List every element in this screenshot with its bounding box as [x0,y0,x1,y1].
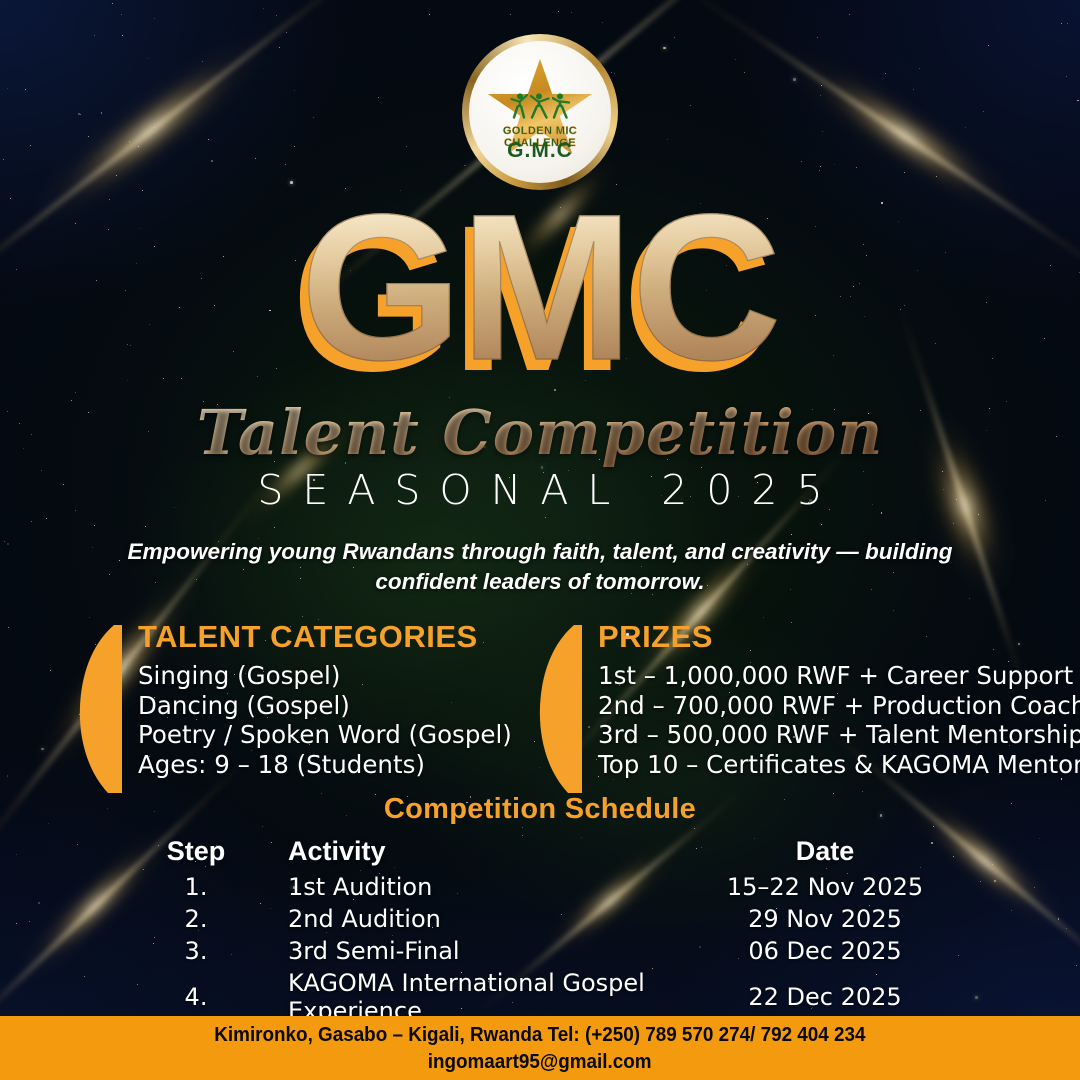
star-dot [819,170,820,171]
panel-line: 1st – 1,000,000 RWF + Career Support [598,661,1058,691]
star-dot [279,47,280,48]
star-dot [8,627,9,628]
star-dot [429,14,430,15]
star-dot [849,14,850,15]
star-dot [1039,838,1040,839]
star-dot [969,598,970,599]
star-dot [893,610,894,611]
panel-title: PRIZES [598,620,1058,654]
panel-line: Singing (Gospel) [138,661,548,691]
star-dot [793,78,796,81]
table-header-row: Step Activity Date [150,836,940,871]
cell-activity: 1st Audition [242,871,710,903]
star-dot [50,670,51,671]
star-dot [1058,918,1060,920]
gmc-wordmark-face: GMC [0,184,1080,392]
star-dot [208,139,209,140]
star-dot [46,518,47,519]
star-dot [211,160,213,162]
star-dot [262,826,263,827]
star-dot [1067,23,1068,24]
star-dot [1076,965,1077,966]
star-dot [763,617,764,618]
star-dot [988,45,989,46]
star-dot [602,22,603,23]
star-dot [41,748,44,751]
star-dot [904,172,905,173]
table-row: 1.1st Audition15–22 Nov 2025 [150,871,940,903]
star-dot [1061,23,1062,24]
star-dot [978,514,979,515]
panel-talent-categories: TALENT CATEGORIES Singing (Gospel) Danci… [78,620,548,779]
star-dot [1011,910,1012,911]
star-dot [522,827,523,828]
star-dot [137,984,138,985]
footer-address-phone: Kimironko, Gasabo – Kigali, Rwanda Tel: … [214,1022,865,1048]
star-dot [822,131,823,132]
star-dot [690,105,691,106]
star-dot [856,167,857,168]
star-dot [145,526,146,527]
star-dot [31,521,32,522]
star-dot [7,775,9,777]
star-dot [1077,100,1079,102]
bracket-icon [538,625,582,793]
star-dot [958,955,959,956]
tagline: Empowering young Rwandans through faith,… [96,537,984,597]
star-dot [101,112,103,114]
star-dot [255,158,256,159]
star-dot [7,543,9,545]
dancer-figure-icon [530,93,550,119]
star-dot [801,161,802,162]
contact-footer: Kimironko, Gasabo – Kigali, Rwanda Tel: … [0,1016,1080,1080]
star-dot [820,95,821,96]
cell-activity: 3rd Semi-Final [242,935,710,967]
star-dot [663,47,666,50]
star-dot [302,616,303,617]
header-activity: Activity [242,836,710,871]
star-dot [885,73,886,74]
star-dot [406,146,407,147]
star-dot [274,527,275,528]
schedule-title: Competition Schedule [0,793,1080,826]
star-dot [38,902,40,904]
cell-step: 3. [150,935,242,967]
star-dot [7,88,8,89]
panel-line: Dancing (Gospel) [138,691,548,721]
star-dot [821,524,822,525]
star-dot [285,164,286,165]
cell-step: 1. [150,871,242,903]
star-dot [30,145,31,146]
cell-date: 29 Nov 2025 [710,903,940,935]
star-dot [834,164,835,165]
star-dot [77,844,78,845]
cell-activity: 2nd Audition [242,903,710,935]
star-dot [558,11,559,12]
logo-white-disc: GOLDEN MIC CHALLENGE G.M.C [469,41,611,183]
star-dot [129,141,130,142]
star-dot [143,869,144,870]
star-dot [88,136,89,137]
panel-line: Ages: 9 – 18 (Students) [138,750,548,780]
star-dot [983,111,984,112]
dancer-figure-icon [552,93,571,119]
panel-line: Poetry / Spoken Word (Gospel) [138,720,548,750]
footer-email: ingomaart95@gmail.com [428,1049,652,1075]
poster-canvas: GOLDEN MIC CHALLENGE G.M.C GMC GMC Talen… [0,0,1080,1080]
star-dot [94,35,95,36]
star-dot [294,146,295,147]
star-dot [80,114,81,115]
dancer-figure-icon [509,93,528,119]
star-dot [112,3,113,4]
star-dot [735,59,736,60]
star-dot [571,12,572,13]
star-dot [138,146,139,147]
star-dot [148,58,149,59]
panel-line: 3rd – 500,000 RWF + Talent Mentorship [598,720,1058,750]
star-dot [4,541,5,542]
script-subtitle: Talent Competition [0,396,1080,469]
star-dot [1066,76,1067,77]
star-dot [913,89,914,90]
header-step: Step [150,836,242,871]
star-dot [936,176,937,177]
star-dot [92,547,93,548]
star-dot [313,117,314,118]
star-dot [16,854,17,855]
star-dot [821,85,822,86]
panel-line: 2nd – 700,000 RWF + Production Coaching [598,691,1058,721]
gmc-wordmark: GMC GMC [0,184,1080,392]
star-dot [122,35,123,36]
star-dot [862,791,863,792]
star-dot [286,32,287,33]
star-dot [116,175,117,176]
star-dot [276,15,277,16]
star-dot [84,976,85,977]
star-dot [820,166,821,167]
star-dot [29,921,30,922]
star-dot [667,139,668,140]
star-dot [674,37,675,38]
star-dot [613,779,614,780]
star-dot [1034,887,1035,888]
season-label: SEASONAL 2025 [0,466,1080,514]
star-dot [919,68,920,69]
cell-step: 2. [150,903,242,935]
star-dot [545,517,546,518]
star-dot [25,89,26,90]
star-dot [154,18,155,19]
header-date: Date [710,836,940,871]
table-row: 3.3rd Semi-Final06 Dec 2025 [150,935,940,967]
panel-prizes: PRIZES 1st – 1,000,000 RWF + Career Supp… [538,620,1058,779]
gmc-logo: GOLDEN MIC CHALLENGE G.M.C [462,34,618,190]
star-dot [510,14,511,15]
panel-line: Top 10 – Certificates & KAGOMA Mentorshi… [598,750,1058,780]
star-dot [3,159,4,160]
star-dot [953,523,954,524]
star-dot [791,534,792,535]
star-dot [202,61,203,62]
star-dot [975,996,978,999]
cell-date: 15–22 Nov 2025 [710,871,940,903]
star-dot [121,14,122,15]
star-dot [965,127,966,128]
star-dot [980,881,981,882]
panel-title: TALENT CATEGORIES [138,620,548,654]
star-dot [817,37,818,38]
dancer-figures-group [509,93,571,119]
bracket-icon [78,625,122,793]
logo-label-short: G.M.C [469,139,611,163]
table-row: 2.2nd Audition29 Nov 2025 [150,903,940,935]
star-dot [378,97,379,98]
star-dot [994,880,997,883]
star-dot [744,72,745,73]
star-dot [953,856,954,857]
star-dot [294,90,295,91]
star-dot [263,8,264,9]
cell-date: 06 Dec 2025 [710,935,940,967]
star-dot [16,923,17,924]
star-dot [94,525,95,526]
star-dot [89,617,90,618]
